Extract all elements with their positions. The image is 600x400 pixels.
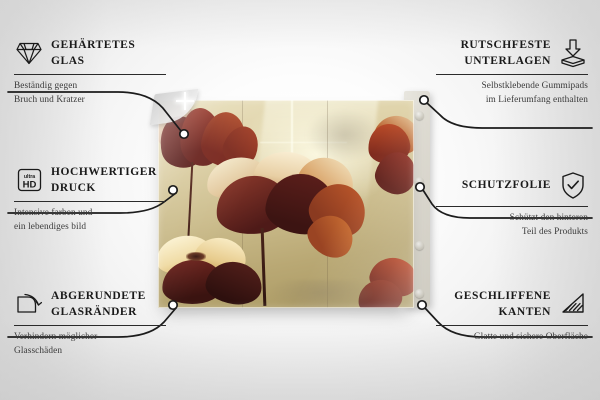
- divider: [14, 325, 166, 326]
- shield-check-icon: [558, 170, 588, 200]
- divider: [14, 74, 166, 75]
- mounting-pad: [415, 241, 424, 250]
- feature-rounded-glass-edges: ABGERUNDETE GLASRÄNDER Verhindern möglic…: [14, 287, 166, 358]
- feature-header: SCHUTZFOLIE: [436, 168, 588, 202]
- feature-description: Glatte und sichere Oberfläche: [436, 331, 588, 344]
- feature-header: GEHÄRTETES GLAS: [14, 36, 166, 70]
- feature-header: ultra HD HOCHWERTIGER DRUCK: [14, 163, 166, 197]
- ultra-hd-icon: ultra HD: [14, 165, 44, 195]
- feature-protective-film: SCHUTZFOLIE Schützt den hinteren Teil de…: [436, 168, 588, 239]
- glass-edge-highlight: [158, 100, 414, 308]
- feature-title: HOCHWERTIGER DRUCK: [51, 164, 157, 197]
- press-pad-icon: [558, 38, 588, 68]
- feature-title: GESCHLIFFENE KANTEN: [454, 288, 551, 321]
- feature-title: RUTSCHFESTE UNTERLAGEN: [461, 37, 551, 70]
- svg-text:HD: HD: [22, 180, 36, 191]
- mounting-pad: [415, 289, 424, 298]
- feature-description: Beständig gegen Bruch und Kratzer: [14, 80, 166, 107]
- mounting-pad: [415, 177, 424, 186]
- feature-ground-edges: GESCHLIFFENE KANTEN Glatte und sichere O…: [436, 287, 588, 345]
- product-image: [158, 100, 414, 308]
- infographic-canvas: GEHÄRTETES GLAS Beständig gegen Bruch un…: [0, 0, 600, 400]
- feature-title: ABGERUNDETE GLASRÄNDER: [51, 288, 146, 321]
- hatched-triangle-icon: [558, 289, 588, 319]
- divider: [436, 206, 588, 207]
- divider: [14, 201, 166, 202]
- feature-description: Selbstklebende Gummipads im Lieferumfang…: [436, 80, 588, 107]
- feature-header: RUTSCHFESTE UNTERLAGEN: [436, 36, 588, 70]
- divider: [436, 325, 588, 326]
- mounting-pad: [415, 111, 424, 120]
- feature-title: SCHUTZFOLIE: [462, 177, 551, 193]
- feature-header: ABGERUNDETE GLASRÄNDER: [14, 287, 166, 321]
- feature-title: GEHÄRTETES GLAS: [51, 37, 135, 70]
- divider: [436, 74, 588, 75]
- rounded-corner-icon: [14, 289, 44, 319]
- diamond-icon: [14, 38, 44, 68]
- feature-description: Schützt den hinteren Teil des Produkts: [436, 212, 588, 239]
- sparkle-icon: [176, 92, 194, 110]
- feature-description: Verhindern möglicher Glasschäden: [14, 331, 166, 358]
- feature-high-quality-print: ultra HD HOCHWERTIGER DRUCK Intensive fa…: [14, 163, 166, 234]
- tempered-glass-panel: [158, 100, 414, 308]
- feature-tempered-glass: GEHÄRTETES GLAS Beständig gegen Bruch un…: [14, 36, 166, 107]
- feature-description: Intensive farben und ein lebendiges bild: [14, 207, 166, 234]
- feature-non-slip-pads: RUTSCHFESTE UNTERLAGEN Selbstklebende Gu…: [436, 36, 588, 107]
- feature-header: GESCHLIFFENE KANTEN: [436, 287, 588, 321]
